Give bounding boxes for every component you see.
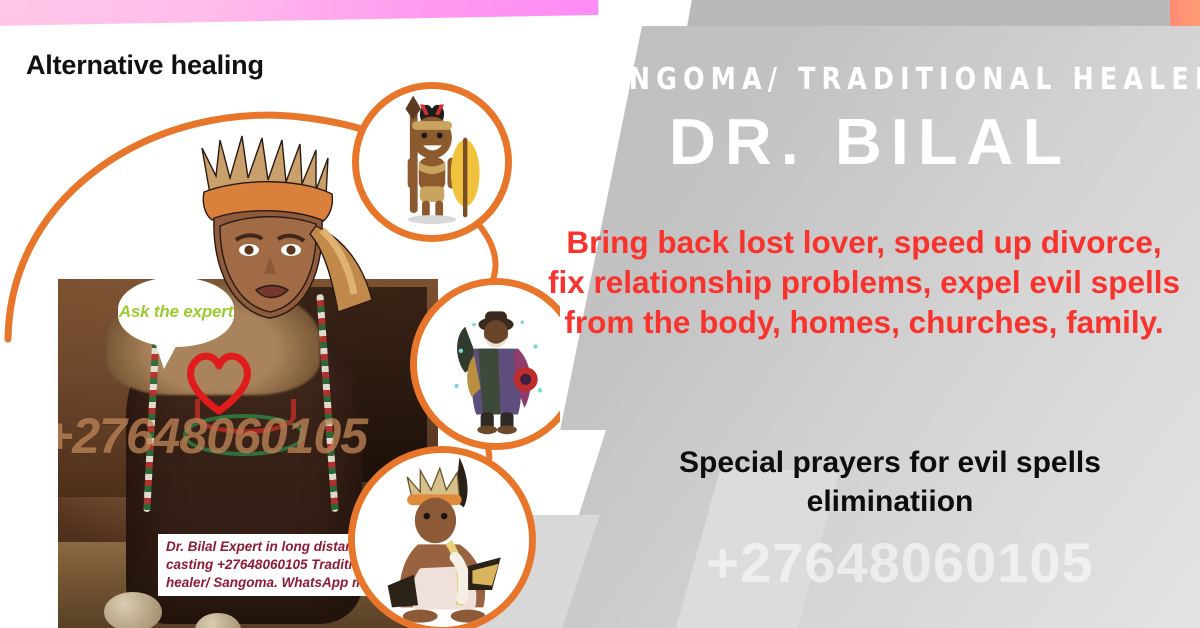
top-bar-pink	[0, 0, 598, 26]
poster-canvas: Ask the expert +27648060105 Dr. Bilal Ex…	[0, 0, 1200, 628]
services-red-copy: Bring back lost lover, speed up divorce,…	[544, 222, 1184, 342]
circle-zulu-warrior-cartoon	[352, 82, 512, 242]
left-collage-stage: Ask the expert +27648060105 Dr. Bilal Ex…	[0, 26, 560, 628]
page-title-alternative-healing: Alternative healing	[26, 50, 264, 81]
healer-name: DR. BILAL	[560, 104, 1180, 179]
circle-crouching-warrior	[348, 446, 536, 628]
special-prayers-copy: Special prayers for evil spells eliminat…	[600, 443, 1180, 521]
top-bar-gray	[687, 0, 1193, 28]
heart-icon	[183, 349, 255, 415]
calabash-a	[104, 592, 162, 628]
kicker-sangoma-traditional-healer: SANGOMA/ TRADITIONAL HEALER	[579, 62, 1162, 97]
phone-number-watermark: +27648060105	[600, 530, 1200, 595]
photo-watermark-number: +27648060105	[58, 407, 367, 465]
